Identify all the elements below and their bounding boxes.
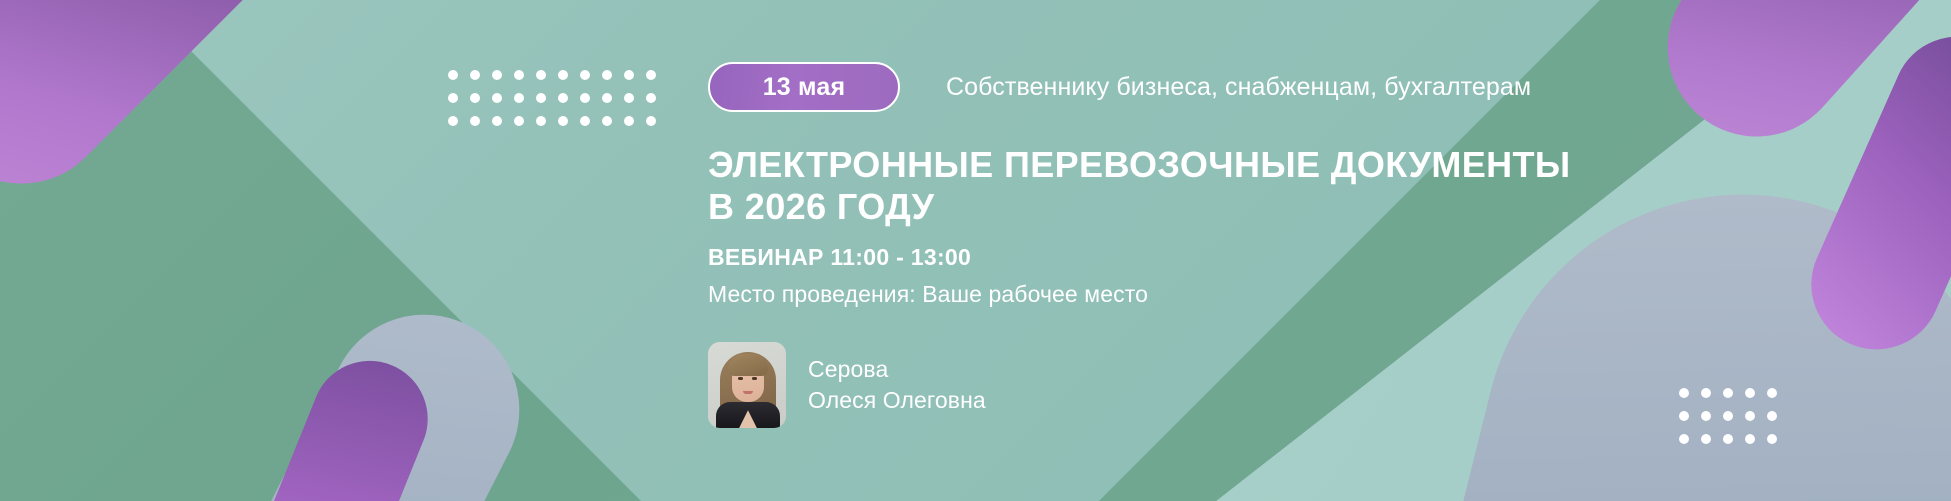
dot <box>448 116 458 126</box>
dot <box>492 70 502 80</box>
speaker-name: Серова Олеся Олеговна <box>808 354 986 416</box>
avatar-eye-left <box>738 377 743 380</box>
dot <box>492 116 502 126</box>
dot <box>492 93 502 103</box>
dot <box>1723 434 1733 444</box>
speaker-given-name: Олеся Олеговна <box>808 385 986 416</box>
dot <box>1701 434 1711 444</box>
dot <box>1745 434 1755 444</box>
dot <box>624 116 634 126</box>
avatar <box>708 342 786 428</box>
venue-text: Место проведения: Ваше рабочее место <box>708 281 1828 308</box>
banner-top-row: 13 мая Собственнику бизнеса, снабженцам,… <box>708 56 1828 118</box>
dot <box>448 93 458 103</box>
dot <box>558 70 568 80</box>
dot <box>646 70 656 80</box>
dot <box>470 116 480 126</box>
dot <box>1679 434 1689 444</box>
dot <box>470 93 480 103</box>
dot <box>514 70 524 80</box>
dot <box>1767 434 1777 444</box>
headline-line-1: ЭЛЕКТРОННЫЕ ПЕРЕВОЗОЧНЫЕ ДОКУМЕНТЫ <box>708 144 1608 186</box>
dot <box>558 116 568 126</box>
speaker-surname: Серова <box>808 354 986 385</box>
dot <box>580 116 590 126</box>
dot <box>624 93 634 103</box>
dot <box>646 93 656 103</box>
dot <box>536 93 546 103</box>
banner-content: 13 мая Собственнику бизнеса, снабженцам,… <box>708 56 1828 428</box>
dot <box>536 70 546 80</box>
audience-text: Собственнику бизнеса, снабженцам, бухгал… <box>946 73 1531 102</box>
dot <box>602 70 612 80</box>
dot <box>470 70 480 80</box>
dot <box>624 70 634 80</box>
date-badge[interactable]: 13 мая <box>708 62 900 112</box>
dot <box>602 93 612 103</box>
avatar-hair-front <box>728 354 768 376</box>
headline-line-2: В 2026 ГОДУ <box>708 186 1608 228</box>
speaker-block: Серова Олеся Олеговна <box>708 342 1828 428</box>
page-title: ЭЛЕКТРОННЫЕ ПЕРЕВОЗОЧНЫЕ ДОКУМЕНТЫ В 202… <box>708 144 1608 228</box>
dot <box>536 116 546 126</box>
dot <box>580 70 590 80</box>
avatar-eye-right <box>752 377 757 380</box>
dot <box>580 93 590 103</box>
dot-grid-left <box>448 70 656 126</box>
dot <box>514 116 524 126</box>
dot <box>646 116 656 126</box>
webinar-banner: 13 мая Собственнику бизнеса, снабженцам,… <box>0 0 1951 501</box>
dot <box>602 116 612 126</box>
webinar-time: ВЕБИНАР 11:00 - 13:00 <box>708 244 1828 271</box>
dot <box>558 93 568 103</box>
dot <box>514 93 524 103</box>
dot <box>448 70 458 80</box>
